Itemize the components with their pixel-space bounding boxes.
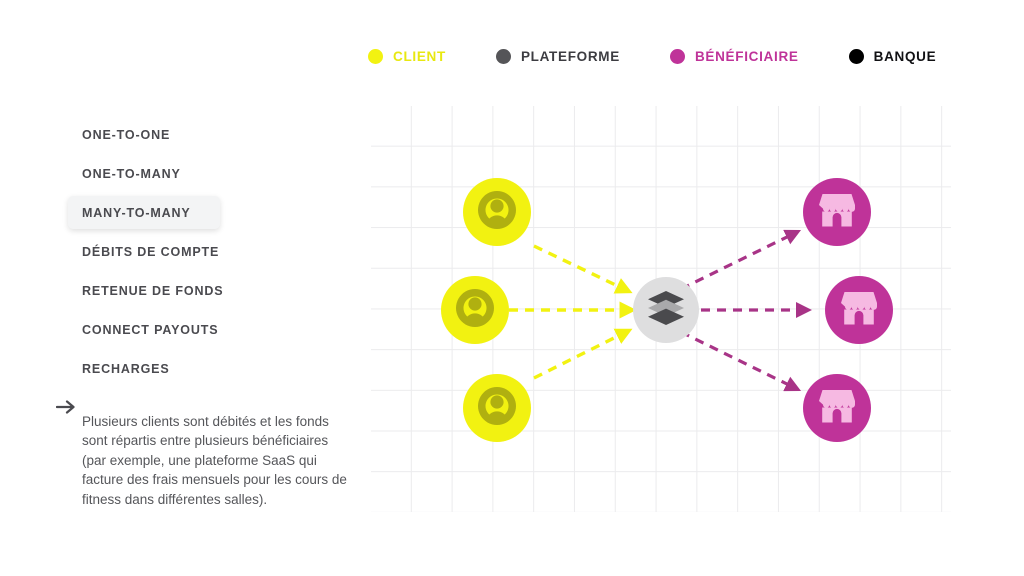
legend-item-plateforme: PLATEFORME bbox=[496, 44, 620, 68]
edge-platform-to-beneficiary-1 bbox=[681, 234, 793, 289]
sidebar-item-label: CONNECT PAYOUTS bbox=[82, 323, 218, 337]
legend-item-client: CLIENT bbox=[368, 44, 446, 68]
layers-stack-icon bbox=[646, 290, 686, 331]
node-client-1[interactable] bbox=[463, 178, 531, 246]
circle-dot-icon bbox=[368, 49, 383, 64]
user-avatar-icon bbox=[476, 385, 518, 432]
sidebar-item-many-to-many[interactable]: MANY-TO-MANY bbox=[68, 196, 220, 229]
sidebar-item-label: ONE-TO-ONE bbox=[82, 128, 170, 142]
sidebar-item-label: RECHARGES bbox=[82, 362, 170, 376]
storefront-icon bbox=[840, 290, 878, 331]
sidebar-item-debits-de-compte[interactable]: DÉBITS DE COMPTE bbox=[68, 235, 268, 268]
description-text: Plusieurs clients sont débités et les fo… bbox=[82, 412, 350, 510]
sidebar-item-label: RETENUE DE FONDS bbox=[82, 284, 223, 298]
circle-dot-icon bbox=[496, 49, 511, 64]
sidebar-item-connect-payouts[interactable]: CONNECT PAYOUTS bbox=[68, 313, 268, 346]
diagram-canvas bbox=[371, 106, 951, 512]
legend-item-beneficiaire: BÉNÉFICIAIRE bbox=[670, 44, 799, 68]
legend-label-beneficiaire: BÉNÉFICIAIRE bbox=[695, 49, 799, 64]
legend-item-banque: BANQUE bbox=[849, 44, 937, 68]
node-beneficiary-3[interactable] bbox=[803, 374, 871, 442]
circle-dot-icon bbox=[670, 49, 685, 64]
node-client-3[interactable] bbox=[463, 374, 531, 442]
node-client-2[interactable] bbox=[441, 276, 509, 344]
storefront-icon bbox=[818, 192, 856, 233]
description-block: Plusieurs clients sont débités et les fo… bbox=[56, 398, 356, 523]
sidebar-item-label: DÉBITS DE COMPTE bbox=[82, 245, 219, 259]
node-platform[interactable] bbox=[633, 277, 699, 343]
user-avatar-icon bbox=[454, 287, 496, 334]
sidebar-item-one-to-one[interactable]: ONE-TO-ONE bbox=[68, 118, 220, 151]
edge-platform-to-beneficiary-3 bbox=[681, 332, 793, 387]
sidebar-item-one-to-many[interactable]: ONE-TO-MANY bbox=[68, 157, 220, 190]
edge-client-1-to-platform bbox=[534, 246, 624, 289]
arrow-right-icon bbox=[56, 399, 80, 420]
circle-dot-icon bbox=[849, 49, 864, 64]
legend-label-banque: BANQUE bbox=[874, 49, 937, 64]
storefront-icon bbox=[818, 388, 856, 429]
legend-label-client: CLIENT bbox=[393, 49, 446, 64]
node-beneficiary-2[interactable] bbox=[825, 276, 893, 344]
user-avatar-icon bbox=[476, 189, 518, 236]
legend: CLIENT PLATEFORME BÉNÉFICIAIRE BANQUE bbox=[368, 44, 928, 68]
sidebar-item-label: ONE-TO-MANY bbox=[82, 167, 181, 181]
sidebar-item-recharges[interactable]: RECHARGES bbox=[68, 352, 220, 385]
edge-client-3-to-platform bbox=[534, 333, 624, 378]
node-beneficiary-1[interactable] bbox=[803, 178, 871, 246]
legend-label-plateforme: PLATEFORME bbox=[521, 49, 620, 64]
sidebar-nav: ONE-TO-ONE ONE-TO-MANY MANY-TO-MANY DÉBI… bbox=[68, 118, 353, 391]
sidebar-item-retenue-de-fonds[interactable]: RETENUE DE FONDS bbox=[68, 274, 268, 307]
sidebar-item-label: MANY-TO-MANY bbox=[82, 206, 191, 220]
